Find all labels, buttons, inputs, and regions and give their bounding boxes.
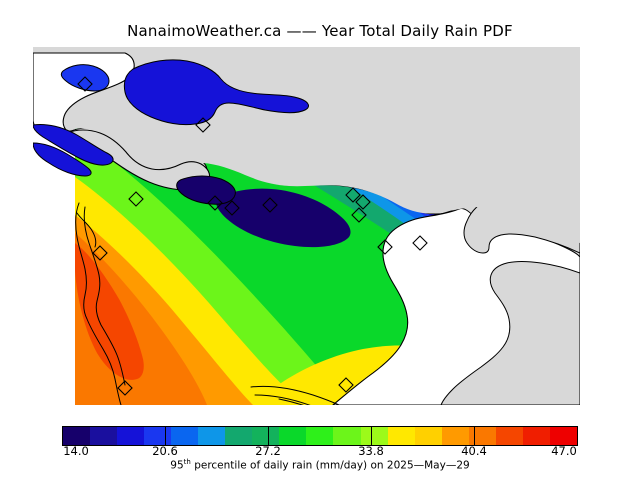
contour-map-svg	[33, 47, 580, 405]
page-title: NanaimoWeather.ca —— Year Total Daily Ra…	[0, 22, 640, 40]
colorbar-segment-12	[388, 427, 415, 445]
caption-percentile-suffix: th	[184, 458, 191, 466]
colorbar-segment-4	[171, 427, 198, 445]
colorbar-segment-15	[469, 427, 496, 445]
colorbar-label-4: 40.4	[461, 444, 487, 458]
colorbar-segment-2	[117, 427, 144, 445]
colorbar-segment-18	[550, 427, 577, 445]
colorbar-segment-5	[198, 427, 225, 445]
colorbar-tick-5	[577, 426, 578, 446]
contour-map-panel	[33, 47, 580, 405]
colorbar-label-3: 33.8	[358, 444, 384, 458]
colorbar-segment-6	[225, 427, 252, 445]
colorbar-segment-13	[415, 427, 442, 445]
colorbar-segment-17	[523, 427, 550, 445]
colorbar-segment-8	[279, 427, 306, 445]
caption-percentile-number: 95	[170, 460, 183, 472]
colorbar-segment-14	[442, 427, 469, 445]
colorbar-segment-7	[252, 427, 279, 445]
caption-rest: percentile of daily rain (mm/day) on 202…	[191, 460, 470, 472]
colorbar-caption: 95th percentile of daily rain (mm/day) o…	[0, 458, 640, 472]
colorbar-segment-10	[333, 427, 360, 445]
colorbar-label-1: 20.6	[152, 444, 178, 458]
colorbar-tick-2	[268, 426, 269, 446]
colorbar-tick-0	[62, 426, 63, 446]
colorbar-segment-1	[90, 427, 117, 445]
weather-map-figure: NanaimoWeather.ca —— Year Total Daily Ra…	[0, 0, 640, 480]
colorbar-segment-3	[144, 427, 171, 445]
colorbar-label-min: 14.0	[63, 444, 89, 458]
colorbar-tick-1	[165, 426, 166, 446]
colorbar-label-max: 47.0	[551, 444, 577, 458]
colorbar-segment-0	[63, 427, 90, 445]
colorbar-segment-11	[361, 427, 388, 445]
colorbar-tick-3	[371, 426, 372, 446]
colorbar-segment-9	[306, 427, 333, 445]
colorbar-gradient	[62, 426, 578, 446]
colorbar-label-2: 27.2	[255, 444, 281, 458]
colorbar-segment-16	[496, 427, 523, 445]
colorbar-tick-4	[474, 426, 475, 446]
colorbar	[62, 426, 578, 446]
